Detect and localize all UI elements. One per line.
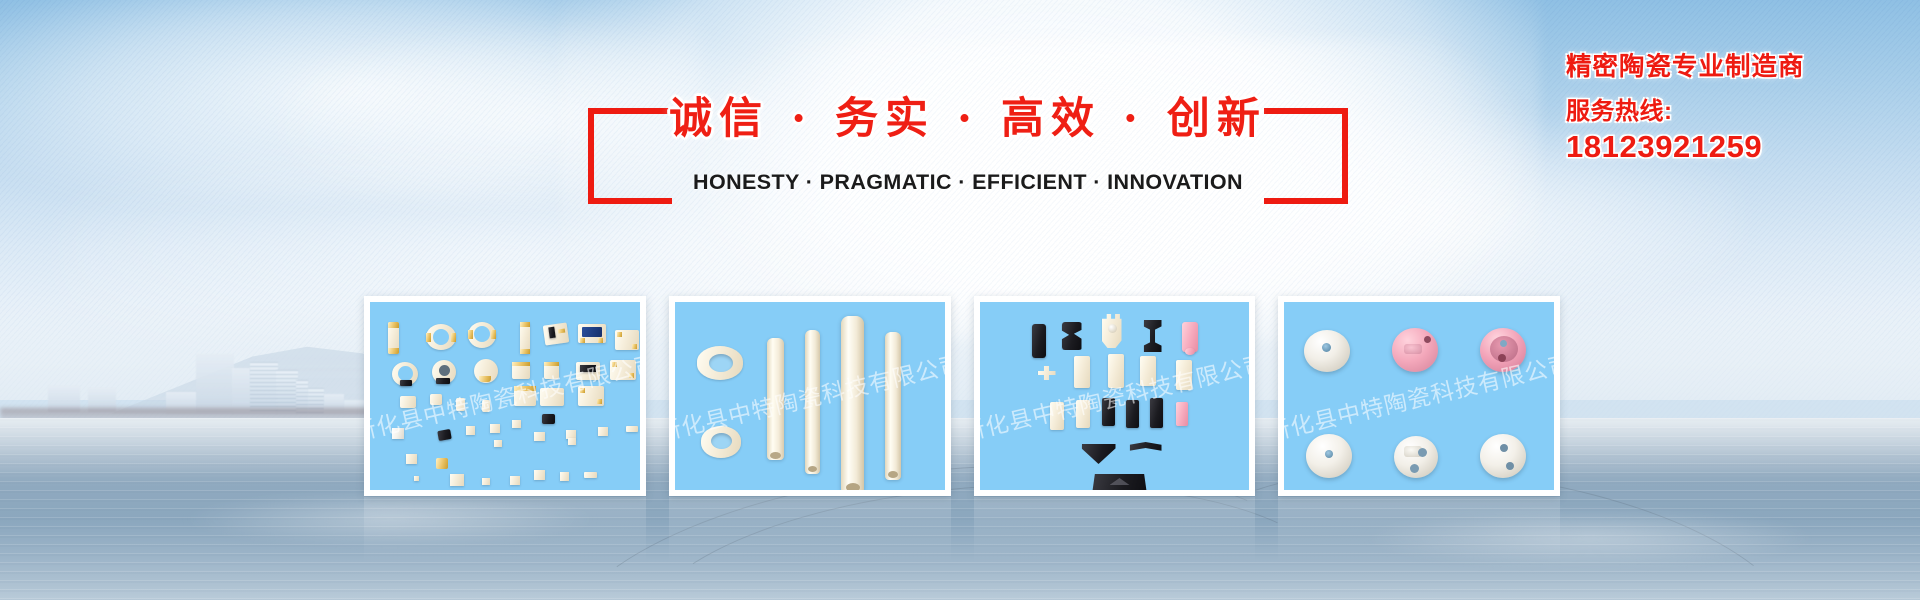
ceramic-tube xyxy=(805,330,820,474)
ceramic-tube xyxy=(767,338,784,460)
bracket-left-bottom xyxy=(588,198,672,204)
ground-puddle xyxy=(1360,508,1820,568)
contact-block: 精密陶瓷专业制造商 服务热线: 18123921259 xyxy=(1566,52,1916,165)
ceramic-tube xyxy=(841,316,864,490)
ceramic-tube xyxy=(885,332,901,480)
product-image-ceramic-tubes: 新化县中特陶瓷科技有限公司 xyxy=(675,302,945,490)
product-panel-row: 新化县中特陶瓷科技有限公司 xyxy=(364,296,1560,496)
product-panel-structural-blocks[interactable]: 新化县中特陶瓷科技有限公司 xyxy=(974,296,1256,496)
slogan-english: HONESTY · PRAGMATIC · EFFICIENT · INNOVA… xyxy=(588,170,1348,195)
hotline-phone-number[interactable]: 18123921259 xyxy=(1566,129,1916,165)
ground-puddle xyxy=(180,492,600,546)
product-image-ceramic-nozzles: 新化县中特陶瓷科技有限公司 xyxy=(1284,302,1554,490)
slogan-chinese: 诚信 · 务实 · 高效 · 创新 xyxy=(588,84,1348,146)
product-panel-ceramic-nozzles[interactable]: 新化县中特陶瓷科技有限公司 xyxy=(1278,296,1560,496)
ceramic-nozzle xyxy=(1480,434,1526,478)
hero-banner: 诚信 · 务实 · 高效 · 创新 HONESTY · PRAGMATIC · … xyxy=(0,0,1920,600)
hotline-label: 服务热线: xyxy=(1566,98,1916,126)
product-image-smd-chips: 新化县中特陶瓷科技有限公司 xyxy=(370,302,640,490)
product-image-structural-blocks: 新化县中特陶瓷科技有限公司 xyxy=(980,302,1250,490)
slogan-block: 诚信 · 务实 · 高效 · 创新 HONESTY · PRAGMATIC · … xyxy=(588,108,1348,204)
product-panel-smd-chips[interactable]: 新化县中特陶瓷科技有限公司 xyxy=(364,296,646,496)
product-panel-ceramic-tubes[interactable]: 新化县中特陶瓷科技有限公司 xyxy=(669,296,951,496)
bracket-right-bottom xyxy=(1264,198,1348,204)
company-tagline: 精密陶瓷专业制造商 xyxy=(1566,52,1916,82)
